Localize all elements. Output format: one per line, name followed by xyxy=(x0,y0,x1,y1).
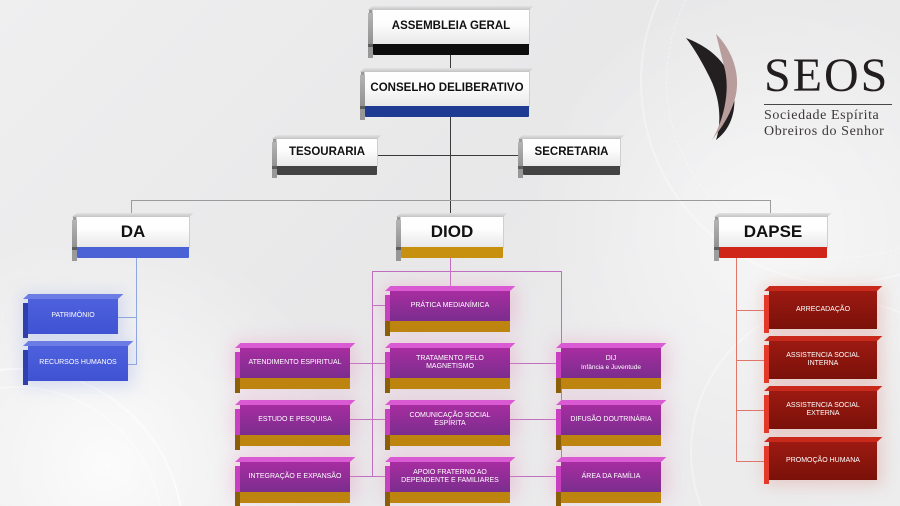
connector-staff-right xyxy=(450,155,522,156)
logo-line-1: Sociedade Espírita xyxy=(764,108,879,124)
node-area-da-familia[interactable]: ÁREA DA FAMÍLIA xyxy=(561,462,661,492)
node-label: PATRIMÔNIO xyxy=(28,299,118,334)
node-label: APOIO FRATERNO AO DEPENDENTE E FAMILIARE… xyxy=(390,462,510,492)
node-dij[interactable]: DIJ Infância e Juventude xyxy=(561,348,661,378)
node-apoio-fraterno[interactable]: APOIO FRATERNO AO DEPENDENTE E FAMILIARE… xyxy=(390,462,510,492)
node-arrecadacao[interactable]: ARRECADAÇÃO xyxy=(769,291,877,329)
node-label: ASSEMBLEIA GERAL xyxy=(392,20,510,33)
connector-dept-bus xyxy=(131,200,770,201)
connector-diod-left-1 xyxy=(349,363,372,364)
node-label: INTEGRAÇÃO E EXPANSÃO xyxy=(240,462,350,492)
node-accent-bar xyxy=(390,492,510,503)
connector-diod-right-2 xyxy=(510,419,561,420)
node-accent-bar xyxy=(240,492,350,503)
node-accent-bar xyxy=(561,492,661,503)
node-accent-bar xyxy=(719,247,827,258)
connector-staff-left xyxy=(378,155,450,156)
node-label: ÁREA DA FAMÍLIA xyxy=(561,462,661,492)
connector-dapse-trunk xyxy=(736,255,737,461)
node-label: COMUNICAÇÃO SOCIAL ESPÍRITA xyxy=(390,405,510,435)
node-label-group: DIJ Infância e Juventude xyxy=(561,348,661,378)
connector-da-branch-1 xyxy=(118,317,136,318)
node-accent-bar xyxy=(373,44,529,55)
organogram-canvas: ASSEMBLEIA GERAL CONSELHO DELIBERATIVO T… xyxy=(0,0,900,506)
node-label: DIFUSÃO DOUTRINÁRIA xyxy=(561,405,661,435)
node-accent-bar xyxy=(401,247,503,258)
connector-da-trunk xyxy=(136,255,137,365)
node-accent-bar xyxy=(240,435,350,446)
node-accent-bar xyxy=(390,321,510,332)
node-accent-bar xyxy=(523,166,620,175)
node-da[interactable]: DA xyxy=(76,216,190,248)
node-label: TRATAMENTO PELO MAGNETISMO xyxy=(390,348,510,378)
watermark-arc-left xyxy=(0,368,184,506)
node-label: ASSISTENCIA SOCIAL INTERNA xyxy=(769,341,877,379)
node-accent-bar xyxy=(561,378,661,389)
node-comunicacao-social-espirita[interactable]: COMUNICAÇÃO SOCIAL ESPÍRITA xyxy=(390,405,510,435)
node-tesouraria[interactable]: TESOURARIA xyxy=(276,138,378,167)
node-difusao-doutrinaria[interactable]: DIFUSÃO DOUTRINÁRIA xyxy=(561,405,661,435)
connector-diod-left-trunk xyxy=(372,271,373,476)
connector-diod-bus xyxy=(372,271,561,272)
node-dapse[interactable]: DAPSE xyxy=(718,216,828,248)
node-label: DAPSE xyxy=(744,222,803,242)
node-atendimento-espiritual[interactable]: ATENDIMENTO ESPIRITUAL xyxy=(240,348,350,378)
watermark-arc-left-inner xyxy=(0,386,164,506)
connector-diod-right-1 xyxy=(510,363,561,364)
node-label: ARRECADAÇÃO xyxy=(769,291,877,329)
connector-cd-spine xyxy=(450,108,451,220)
node-accent-bar xyxy=(77,247,189,258)
connector-diod-left-3 xyxy=(349,476,372,477)
node-secretaria[interactable]: SECRETARIA xyxy=(522,138,621,167)
node-label: DIOD xyxy=(431,222,474,242)
node-accent-bar xyxy=(277,166,377,175)
node-label: ESTUDO E PESQUISA xyxy=(240,405,350,435)
node-label: SECRETARIA xyxy=(535,146,609,159)
node-estudo-e-pesquisa[interactable]: ESTUDO E PESQUISA xyxy=(240,405,350,435)
node-accent-bar xyxy=(240,378,350,389)
connector-diod-left-2 xyxy=(349,419,372,420)
connector-diod-right-3 xyxy=(510,476,561,477)
node-label: DA xyxy=(121,222,146,242)
node-promocao-humana[interactable]: PROMOÇÃO HUMANA xyxy=(769,442,877,480)
node-accent-bar xyxy=(561,435,661,446)
node-label: PRÁTICA MEDIANÍMICA xyxy=(390,291,510,321)
node-accent-bar xyxy=(390,378,510,389)
node-assistencia-social-externa[interactable]: ASSISTENCIA SOCIAL EXTERNA xyxy=(769,391,877,429)
node-label: RECURSOS HUMANOS xyxy=(28,346,128,381)
node-recursos-humanos[interactable]: RECURSOS HUMANOS xyxy=(28,346,128,381)
node-conselho-deliberativo[interactable]: CONSELHO DELIBERATIVO xyxy=(364,71,530,107)
node-label: DIJ xyxy=(606,355,617,363)
node-label: CONSELHO DELIBERATIVO xyxy=(370,82,523,95)
seos-flame-icon xyxy=(672,30,772,142)
node-label: PROMOÇÃO HUMANA xyxy=(769,442,877,480)
logo-divider xyxy=(764,104,892,105)
node-accent-bar xyxy=(365,106,529,117)
node-assembleia-geral[interactable]: ASSEMBLEIA GERAL xyxy=(372,9,530,45)
node-integracao-e-expansao[interactable]: INTEGRAÇÃO E EXPANSÃO xyxy=(240,462,350,492)
node-patrimonio[interactable]: PATRIMÔNIO xyxy=(28,299,118,334)
node-tratamento-pelo-magnetismo[interactable]: TRATAMENTO PELO MAGNETISMO xyxy=(390,348,510,378)
node-label: ASSISTENCIA SOCIAL EXTERNA xyxy=(769,391,877,429)
node-assistencia-social-interna[interactable]: ASSISTENCIA SOCIAL INTERNA xyxy=(769,341,877,379)
logo-acronym: SEOS xyxy=(764,52,889,100)
node-label: ATENDIMENTO ESPIRITUAL xyxy=(240,348,350,378)
node-diod[interactable]: DIOD xyxy=(400,216,504,248)
seos-logo: SEOS Sociedade Espírita Obreiros do Senh… xyxy=(672,30,896,142)
node-pratica-medianimica[interactable]: PRÁTICA MEDIANÍMICA xyxy=(390,291,510,321)
logo-line-2: Obreiros do Senhor xyxy=(764,124,884,140)
node-accent-bar xyxy=(390,435,510,446)
node-label: TESOURARIA xyxy=(289,146,365,159)
node-sublabel: Infância e Juventude xyxy=(581,364,641,371)
